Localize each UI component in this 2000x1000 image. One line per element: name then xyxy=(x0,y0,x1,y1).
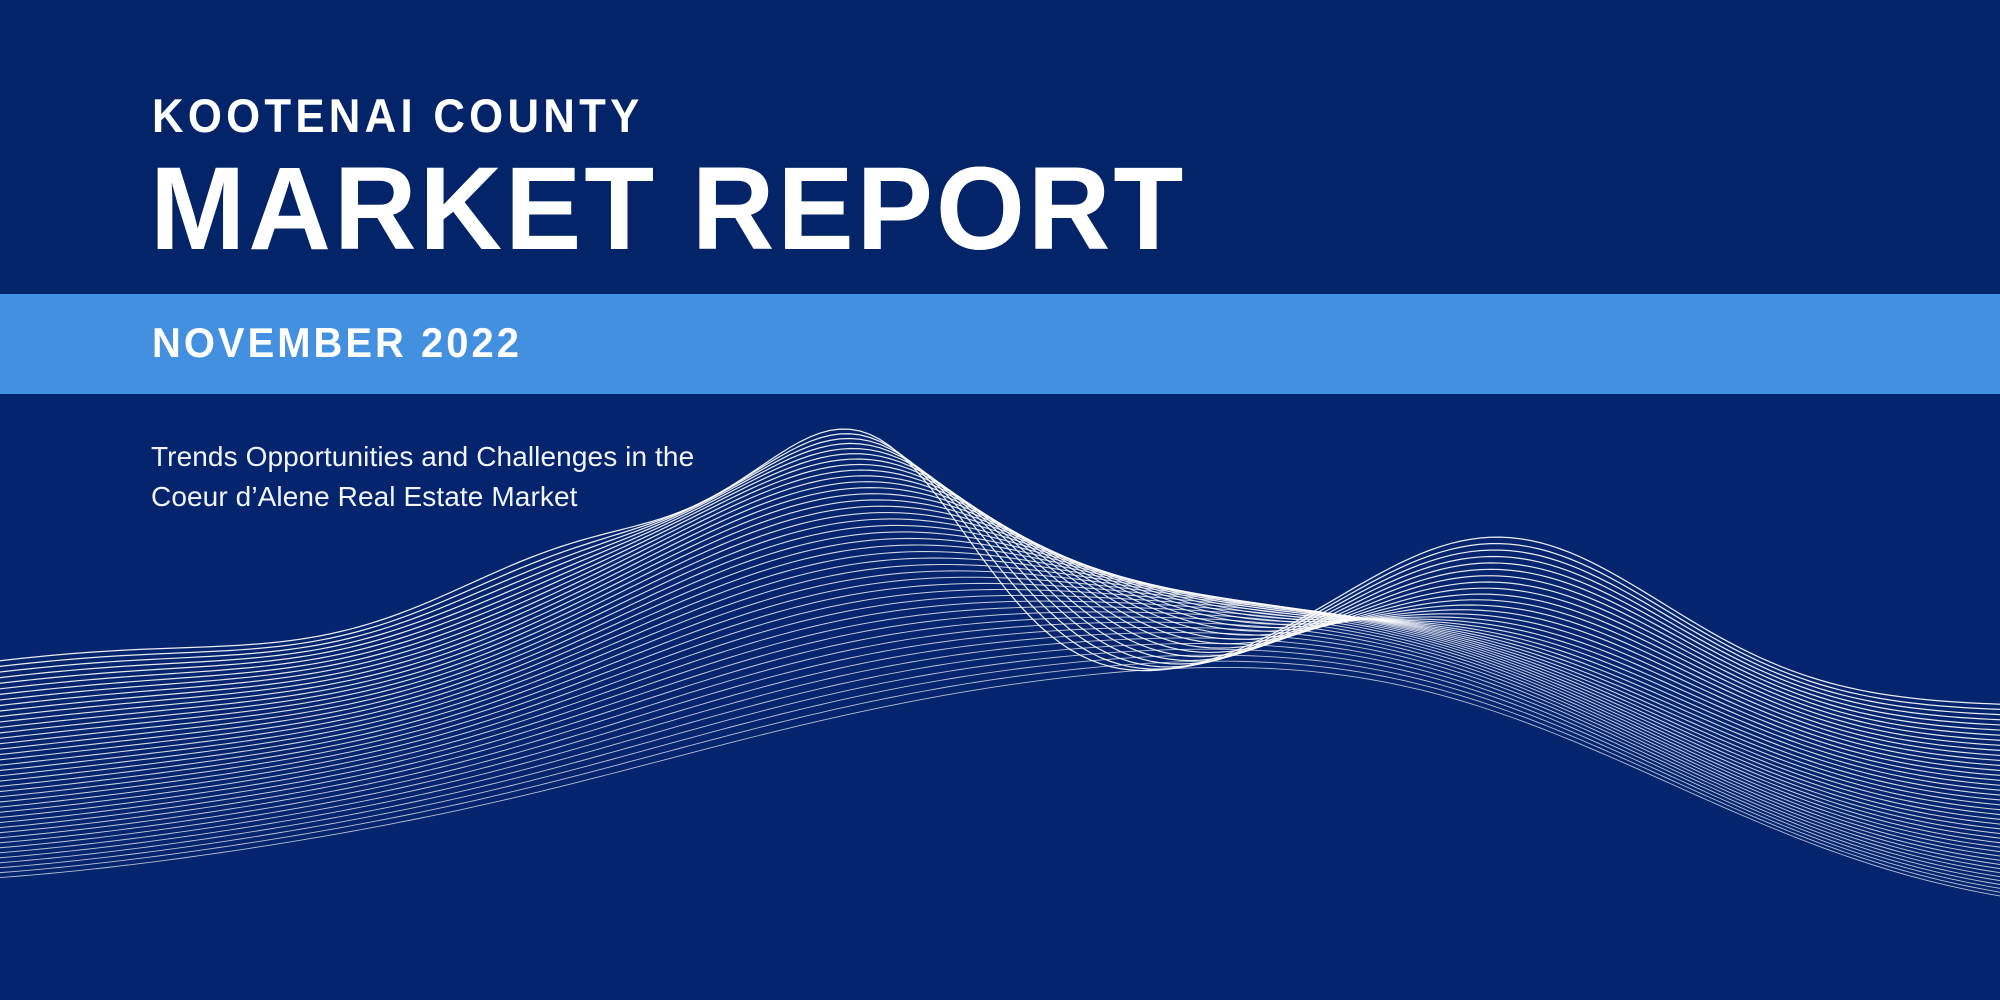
report-date-label: NOVEMBER 2022 xyxy=(152,322,522,364)
page-title: MARKET REPORT xyxy=(150,150,1186,268)
eyebrow-county-label: KOOTENAI COUNTY xyxy=(152,92,644,139)
subtitle-line-2: Coeur d’Alene Real Estate Market xyxy=(151,477,694,517)
subtitle-line-1: Trends Opportunities and Challenges in t… xyxy=(151,437,694,477)
subtitle: Trends Opportunities and Challenges in t… xyxy=(151,437,694,517)
report-cover-page: KOOTENAI COUNTY MARKET REPORT NOVEMBER 2… xyxy=(0,0,2000,1000)
